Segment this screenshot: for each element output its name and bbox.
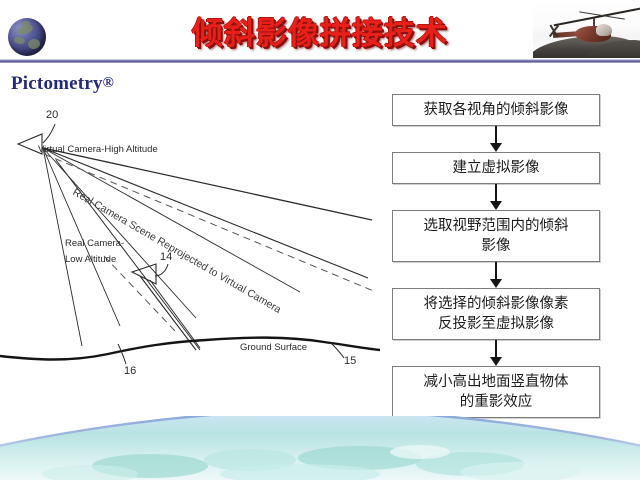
earth-landmasses	[42, 445, 580, 480]
helicopter-photo	[533, 0, 640, 58]
callout-leader-20	[43, 124, 55, 143]
flow-step-3-line-1: 选取视野范围内的倾斜	[397, 216, 595, 236]
callout-16-label: 16	[124, 365, 136, 377]
arrow-head-icon	[490, 201, 502, 210]
helicopter-cockpit	[596, 24, 612, 36]
flow-step-4-line-2: 反投影至虚拟影像	[397, 314, 595, 334]
virtual-camera-label: Virtual Camera-High Altitude	[38, 144, 158, 155]
registered-mark-icon: ®	[103, 75, 114, 91]
callout-20-label: 20	[46, 109, 58, 121]
earth-horizon-rim	[0, 416, 640, 480]
oblique-image-stitching-flow: 获取各视角的倾斜影像 建立虚拟影像 选取视野范围内的倾斜 影像 将选择的倾斜影像…	[392, 94, 604, 418]
arrow-head-icon	[490, 357, 502, 366]
rotor-blade-icon	[554, 8, 640, 27]
arrow-head-icon	[490, 279, 502, 288]
slide-header: 倾斜影像拼接技术	[0, 0, 640, 63]
ground-surface-curve	[0, 338, 380, 360]
flow-arrow-3	[392, 262, 600, 288]
real-camera-label-line2: Low Altitude	[65, 254, 116, 265]
flow-step-1-line-1: 获取各视角的倾斜影像	[397, 100, 595, 120]
flow-step-5-line-2: 的重影效应	[397, 392, 595, 412]
callout-15-label: 15	[344, 355, 356, 367]
pictometry-geometry-diagram: 20 Virtual Camera-High Altitude Real Cam…	[0, 96, 380, 396]
flow-step-4[interactable]: 将选择的倾斜影像像素 反投影至虚拟影像	[392, 288, 600, 340]
real-camera-label-line1: Real Camera-	[65, 238, 124, 249]
flow-step-4-line-1: 将选择的倾斜影像像素	[397, 294, 595, 314]
brand-name: Pictometry	[11, 73, 103, 94]
flow-step-1[interactable]: 获取各视角的倾斜影像	[392, 94, 600, 126]
flow-arrow-2	[392, 184, 600, 210]
flow-step-5[interactable]: 减小高出地面竖直物体 的重影效应	[392, 366, 600, 418]
brand-label: Pictometry®	[11, 73, 114, 95]
flow-arrow-1	[392, 126, 600, 152]
flow-step-3-line-2: 影像	[397, 236, 595, 256]
earth-horizon-arc	[0, 416, 640, 480]
arrow-head-icon	[490, 143, 502, 152]
header-divider	[0, 59, 640, 63]
flow-step-5-line-1: 减小高出地面竖直物体	[397, 372, 595, 392]
flow-step-3[interactable]: 选取视野范围内的倾斜 影像	[392, 210, 600, 262]
earth-sphere-fill	[0, 416, 640, 480]
flow-step-2-line-1: 建立虚拟影像	[397, 158, 595, 178]
flow-arrow-4	[392, 340, 600, 366]
ground-surface-label: Ground Surface	[240, 342, 307, 353]
flow-step-2[interactable]: 建立虚拟影像	[392, 152, 600, 184]
callout-leader-16	[118, 344, 126, 364]
